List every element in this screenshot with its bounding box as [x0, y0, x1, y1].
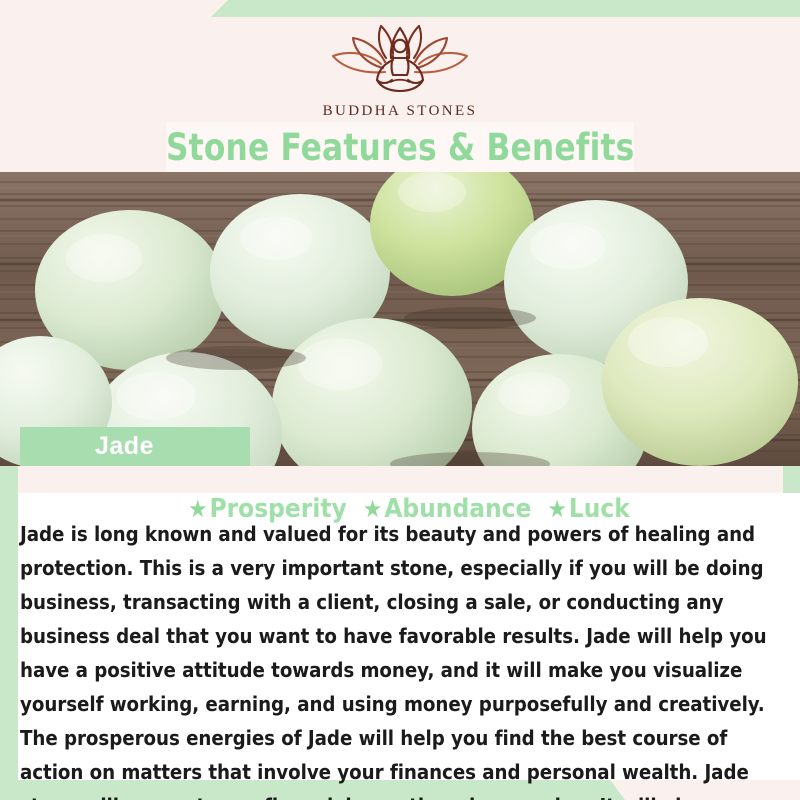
stone-name-label: Jade	[95, 432, 154, 461]
description-card: ★Prosperity ★Abundance ★Luck Jade is lon…	[18, 493, 800, 780]
stone-description-text: Jade is long known and valued for its be…	[20, 517, 792, 800]
section-title-banner: Stone Features & Benefits	[166, 122, 634, 172]
page-title: Stone Features & Benefits	[166, 126, 635, 169]
lotus-meditation-figure-icon	[0, 22, 800, 97]
stone-info-card: BUDDHA STONES	[0, 0, 800, 800]
jade-stones-photo	[0, 172, 800, 466]
brand-logo: BUDDHA STONES	[0, 22, 800, 120]
stone-name-badge: Jade	[20, 427, 250, 466]
brand-name: BUDDHA STONES	[0, 103, 800, 120]
top-green-accent-bar	[0, 0, 800, 17]
